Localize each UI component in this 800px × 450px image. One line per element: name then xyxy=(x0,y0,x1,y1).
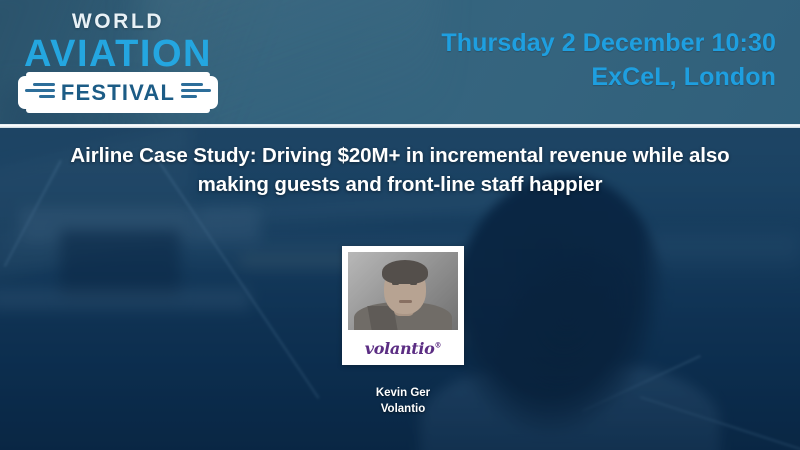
speaker-details: Kevin Ger Volantio xyxy=(303,385,503,417)
volantio-logo: volantio® xyxy=(348,339,458,358)
volantio-logo-text: volantio xyxy=(365,339,435,358)
speed-lines-right-icon xyxy=(181,83,211,98)
speaker-card[interactable]: volantio® xyxy=(342,246,464,365)
session-title-line-2: making guests and front-line staff happi… xyxy=(198,173,603,196)
logo-festival-banner: FESTIVAL xyxy=(18,74,218,112)
session-title: Airline Case Study: Driving $20M+ in inc… xyxy=(36,141,764,199)
speed-lines-left-icon xyxy=(25,83,55,98)
world-aviation-festival-logo[interactable]: WORLD AVIATION FESTIVAL xyxy=(14,6,222,114)
header-divider xyxy=(0,124,800,128)
session-title-line-1: Airline Case Study: Driving $20M+ in inc… xyxy=(70,144,729,167)
logo-word-aviation: AVIATION xyxy=(14,33,222,75)
session-date: Thursday 2 December 10:30 xyxy=(441,26,776,60)
session-meta: Thursday 2 December 10:30 ExCeL, London xyxy=(441,26,776,94)
session-slide: WORLD AVIATION FESTIVAL Thursday 2 Decem… xyxy=(0,0,800,450)
speaker-headshot xyxy=(348,252,458,330)
speaker-name: Kevin Ger xyxy=(303,385,503,401)
headshot-grayscale-grade xyxy=(348,252,458,330)
speaker-company: Volantio xyxy=(303,401,503,417)
logo-word-world: WORLD xyxy=(14,10,222,34)
session-venue: ExCeL, London xyxy=(441,60,776,94)
